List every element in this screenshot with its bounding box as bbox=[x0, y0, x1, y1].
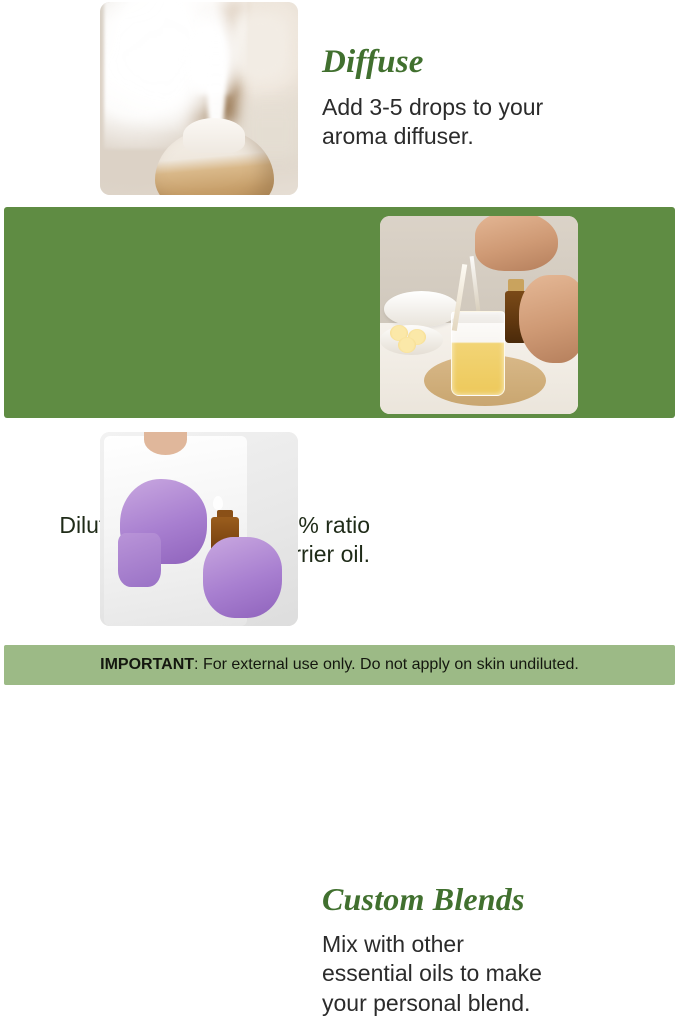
custom-blends-body-line-2: essential oils to make bbox=[322, 959, 667, 988]
glass-beaker-with-oil bbox=[451, 311, 504, 396]
important-label: IMPORTANT bbox=[100, 656, 194, 673]
custom-blends-body-line-3: your personal blend. bbox=[322, 989, 667, 1018]
diffuser-photo bbox=[100, 2, 298, 195]
purple-glove-cuff bbox=[118, 533, 162, 587]
gloves-scene bbox=[100, 432, 298, 626]
custom-blends-text-block: Custom Blends Mix with other essential o… bbox=[322, 881, 667, 1018]
diffuse-body-line-2: aroma diffuser. bbox=[322, 122, 662, 151]
important-notice-text: IMPORTANT: For external use only. Do not… bbox=[4, 656, 675, 674]
usage-instructions-infographic: Diffuse Add 3-5 drops to your aroma diff… bbox=[0, 0, 679, 685]
oil-drop-icon bbox=[213, 496, 223, 510]
custom-blends-photo bbox=[100, 432, 298, 626]
diffuser-cap bbox=[183, 118, 244, 153]
massage-oil-scene bbox=[380, 216, 578, 414]
white-plate bbox=[384, 291, 459, 327]
massage-oil-photo bbox=[380, 216, 578, 414]
custom-blends-heading: Custom Blends bbox=[322, 881, 667, 918]
section-diffuse: Diffuse Add 3-5 drops to your aroma diff… bbox=[0, 0, 679, 203]
citrus-slice bbox=[398, 337, 416, 353]
diffuse-heading: Diffuse bbox=[322, 44, 662, 81]
custom-blends-body-line-1: Mix with other bbox=[322, 930, 667, 959]
important-separator: : bbox=[194, 656, 203, 673]
purple-glove-right bbox=[203, 537, 282, 618]
hand-holding-bottle bbox=[519, 275, 578, 362]
diffuse-text-block: Diffuse Add 3-5 drops to your aroma diff… bbox=[322, 44, 662, 152]
important-notice-bar: IMPORTANT: For external use only. Do not… bbox=[4, 645, 675, 685]
hand-holding-dropper bbox=[475, 216, 558, 271]
diffuser-scene bbox=[100, 2, 298, 195]
important-body: For external use only. Do not apply on s… bbox=[203, 656, 579, 673]
section-custom-blends: Custom Blends Mix with other essential o… bbox=[0, 421, 679, 637]
section-massage-oil: Massage Oil Dilute 5-10 drops at a 2% ra… bbox=[0, 203, 679, 421]
diffuse-body-line-1: Add 3-5 drops to your bbox=[322, 93, 662, 122]
